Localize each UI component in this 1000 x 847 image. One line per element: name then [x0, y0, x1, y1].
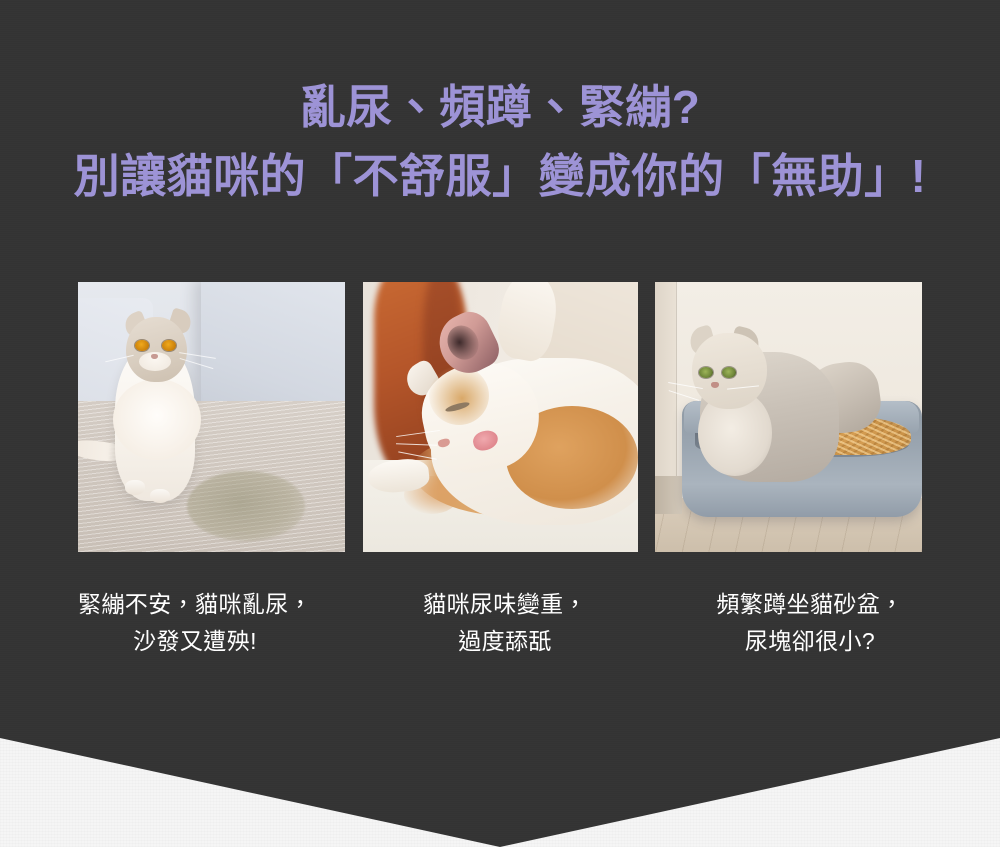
photo-gallery	[78, 282, 922, 552]
caption-cat-overgrooming: 貓咪尿味變重， 過度舔舐	[380, 586, 630, 661]
headline-line-1: 亂尿、頻蹲、緊繃?	[0, 78, 1000, 137]
photo-1-artwork	[78, 282, 345, 552]
caption-cat-urine-sofa: 緊繃不安，貓咪亂尿， 沙發又遭殃!	[40, 586, 350, 661]
cat-nose	[151, 354, 158, 359]
cat-paw-left	[125, 480, 145, 495]
photo-2-artwork	[363, 282, 638, 552]
page-title: 亂尿、頻蹲、緊繃? 別讓貓咪的「不舒服」變成你的「無助」!	[0, 78, 1000, 206]
cat-head-tan-marking	[429, 366, 490, 425]
caption-cat-litter-box: 頻繁蹲坐貓砂盆， 尿塊卻很小?	[660, 586, 960, 661]
photo-3-artwork	[655, 282, 922, 552]
headline-line-2: 別讓貓咪的「不舒服」變成你的「無助」!	[0, 147, 1000, 206]
urine-stain	[187, 471, 304, 541]
promo-banner: 亂尿、頻蹲、緊繃? 別讓貓咪的「不舒服」變成你的「無助」!	[0, 0, 1000, 847]
photo-cat-litter-box	[655, 282, 922, 552]
baseboard	[655, 476, 682, 514]
cat-head	[126, 317, 187, 382]
photo-cat-overgrooming	[363, 282, 638, 552]
caption-row: 緊繃不安，貓咪亂尿， 沙發又遭殃! 貓咪尿味變重， 過度舔舐 頻繁蹲坐貓砂盆， …	[40, 586, 960, 661]
photo-cat-urine-sofa	[78, 282, 345, 552]
cat-chest-ruff	[113, 379, 201, 460]
cat-nose	[711, 382, 719, 388]
